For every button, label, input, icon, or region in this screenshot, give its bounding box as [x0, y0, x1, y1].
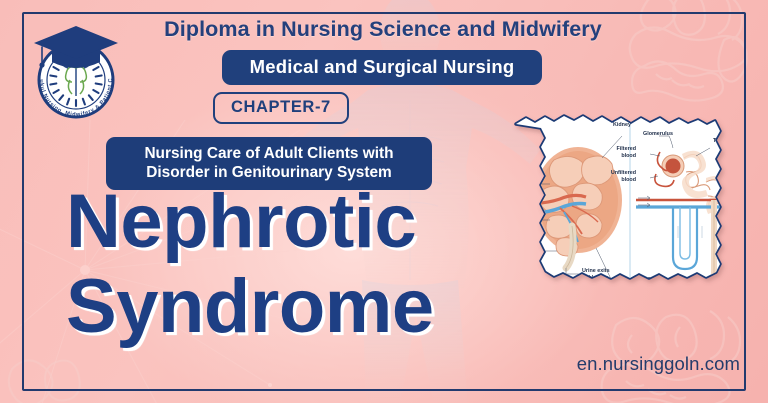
program-kicker: Diploma in Nursing Science and Midwifery — [148, 17, 618, 42]
label-unfiltered-blood-left-2: blood — [514, 181, 529, 187]
label-filtered-blood-left-2: blood — [514, 219, 529, 225]
organ-lineart-top-right — [614, 0, 768, 108]
subtitle-line-1: Nursing Care of Adult Clients with — [144, 145, 393, 162]
label-urine-exits-duct: Urine exits duct — [660, 309, 698, 315]
label-glomerulus: Glomerulus — [643, 131, 673, 137]
subject-ribbon: Medical and Surgical Nursing — [222, 50, 542, 85]
page-title: Nephrotic Syndrome — [66, 186, 526, 344]
label-unfiltered-blood-right-2: blood — [621, 177, 636, 183]
page-title-line-2: Syndrome — [66, 271, 526, 344]
label-filtered-blood-right-2: blood — [621, 153, 636, 159]
label-urine-exits: Urine exits — [582, 268, 610, 274]
label-filtered-blood-left: Filtered — [514, 212, 533, 218]
page-title-line-1: Nephrotic — [66, 186, 526, 259]
label-unfiltered-blood-right: Unfiltered — [611, 170, 636, 176]
poster-canvas: Gurukul Nursing, Midwifery & Patient Car… — [0, 0, 768, 403]
label-filtered-blood-right: Filtered — [617, 146, 636, 152]
label-unfiltered-blood-left: Unfiltered — [514, 174, 539, 180]
chapter-badge: CHAPTER-7 — [213, 92, 349, 124]
website-url[interactable]: en.nursinggoln.com — [577, 353, 740, 375]
label-ureter: Ureter — [518, 249, 535, 255]
gurukul-nursing-logo: Gurukul Nursing, Midwifery & Patient Car… — [22, 18, 130, 126]
label-kidney: Kidney — [613, 122, 631, 128]
kidney-nephron-diagram: Kidney Unfiltered blood Filtered blood U… — [510, 108, 742, 335]
